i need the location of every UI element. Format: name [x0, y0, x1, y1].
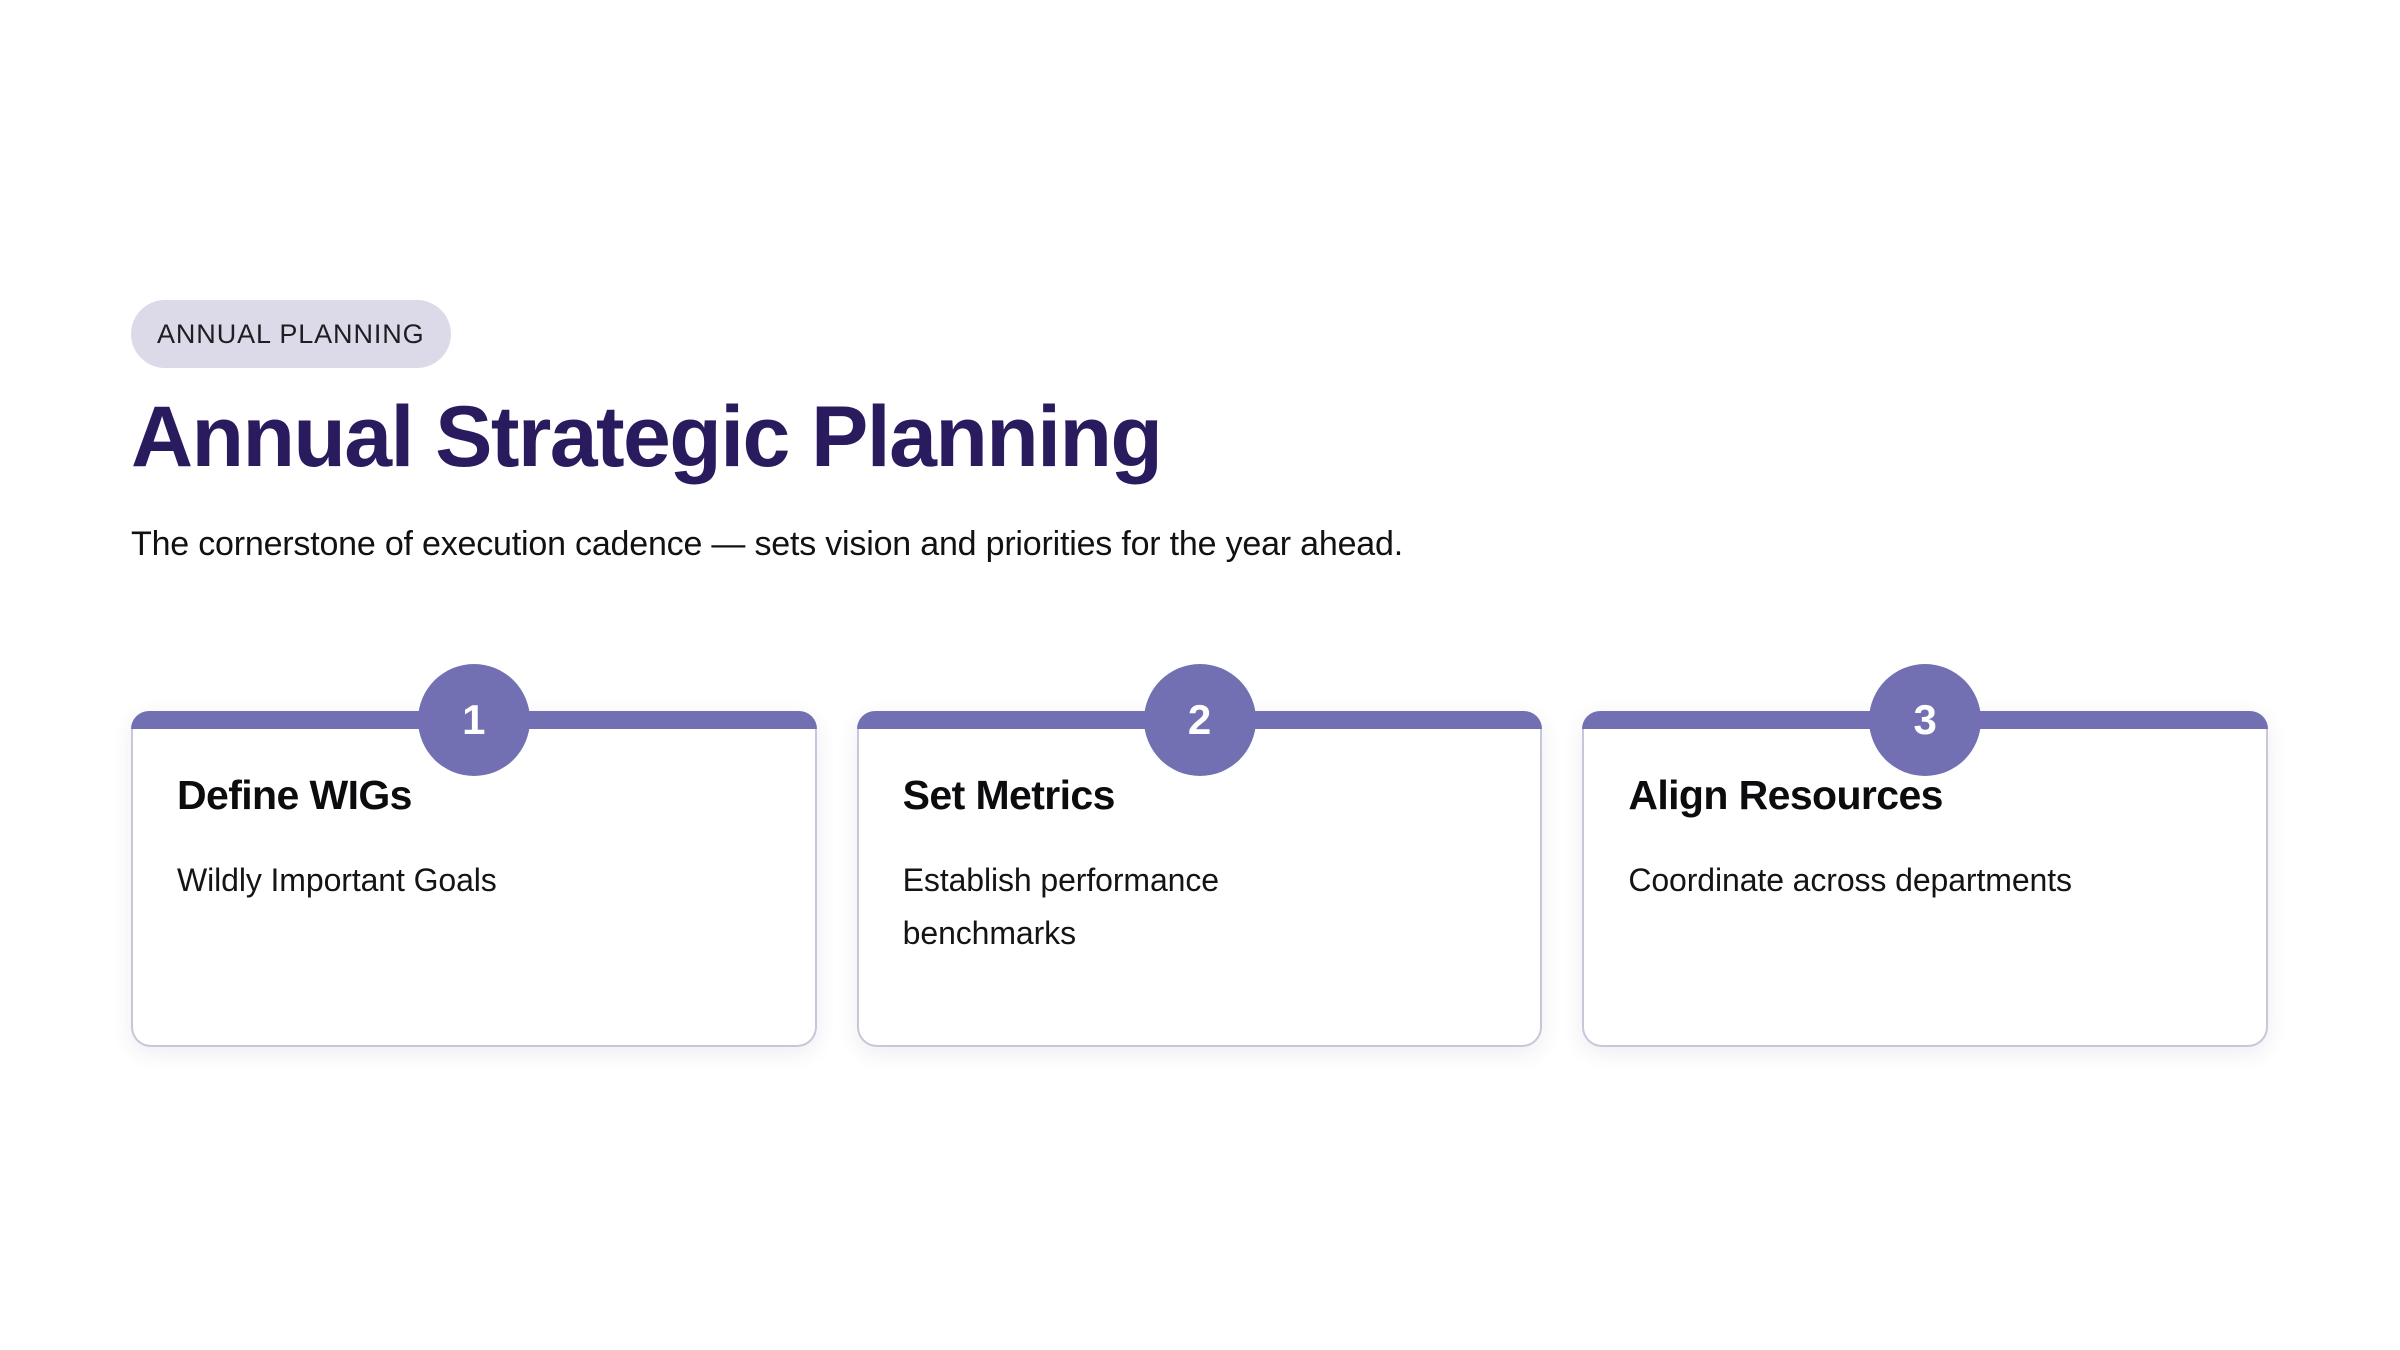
step-number-badge: 1 — [418, 664, 530, 776]
annual-planning-page: ANNUAL PLANNING Annual Strategic Plannin… — [0, 0, 2400, 1350]
step-title: Define WIGs — [177, 773, 771, 818]
page-subtitle: The cornerstone of execution cadence — s… — [131, 522, 2271, 568]
steps-row: 1 Define WIGs Wildly Important Goals 2 S… — [131, 711, 2268, 1047]
step-description: Wildly Important Goals — [177, 854, 771, 907]
step-number-badge: 3 — [1869, 664, 1981, 776]
eyebrow-badge: ANNUAL PLANNING — [131, 300, 451, 368]
step-description: Coordinate across departments — [1628, 854, 2222, 907]
step-number-badge: 2 — [1144, 664, 1256, 776]
page-title: Annual Strategic Planning — [131, 394, 2271, 480]
step-card-body: Align Resources Coordinate across depart… — [1628, 773, 2222, 907]
step-card-body: Define WIGs Wildly Important Goals — [177, 773, 771, 907]
step-card-2[interactable]: 2 Set Metrics Establish performance benc… — [857, 711, 1543, 1047]
step-description: Establish performance benchmarks — [903, 854, 1333, 960]
step-card-body: Set Metrics Establish performance benchm… — [903, 773, 1497, 960]
step-card-3[interactable]: 3 Align Resources Coordinate across depa… — [1582, 711, 2268, 1047]
step-title: Align Resources — [1628, 773, 2222, 818]
step-card-1[interactable]: 1 Define WIGs Wildly Important Goals — [131, 711, 817, 1047]
step-title: Set Metrics — [903, 773, 1497, 818]
page-header: ANNUAL PLANNING Annual Strategic Plannin… — [131, 300, 2271, 568]
